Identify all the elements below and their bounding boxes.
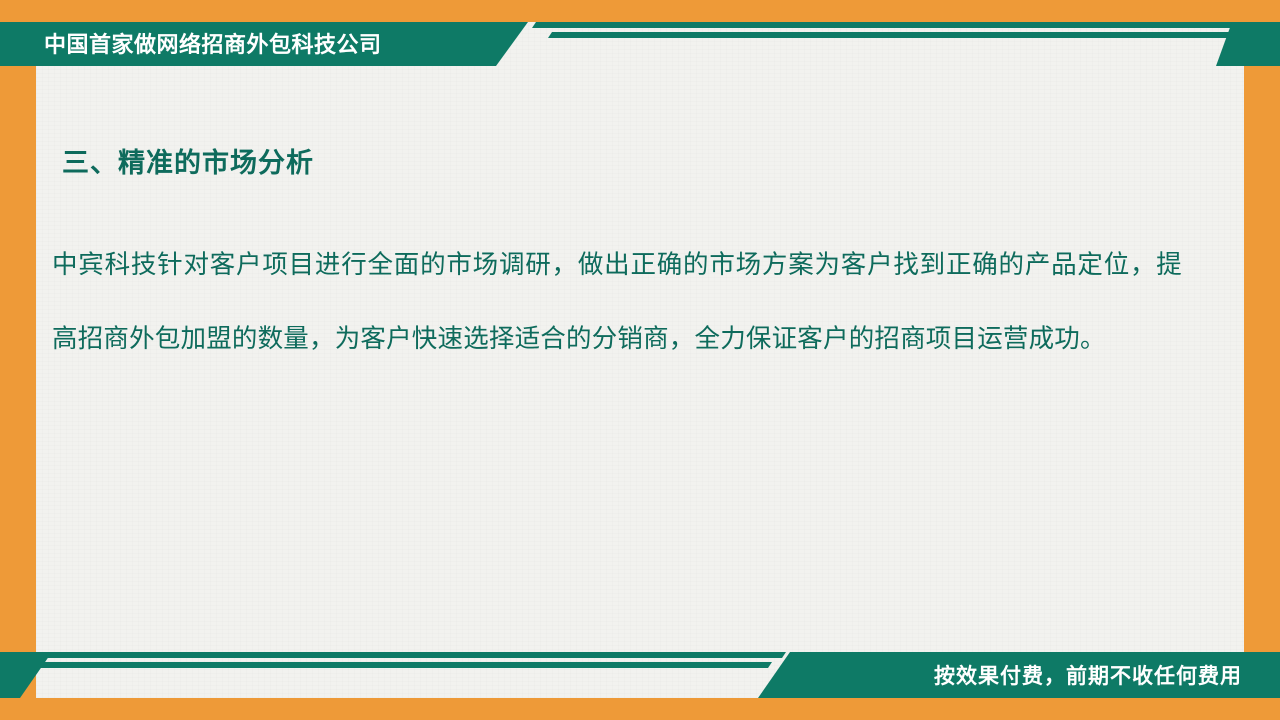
header-ribbon-top-line bbox=[532, 22, 1280, 28]
footer-ribbon-thin-line bbox=[36, 662, 772, 668]
header-title: 中国首家做网络招商外包科技公司 bbox=[44, 30, 382, 60]
footer-ribbon-top-line bbox=[0, 652, 786, 658]
body-paragraph: 中宾科技针对客户项目进行全面的市场调研，做出正确的市场方案为客户找到正确的产品定… bbox=[52, 228, 1182, 376]
slide: 中国首家做网络招商外包科技公司 三、精准的市场分析 中宾科技针对客户项目进行全面… bbox=[0, 0, 1280, 720]
header-ribbon-thin-line bbox=[548, 32, 1280, 38]
header-ribbon-right bbox=[1216, 22, 1280, 66]
section-heading: 三、精准的市场分析 bbox=[62, 141, 314, 180]
footer-slogan: 按效果付费，前期不收任何费用 bbox=[934, 660, 1242, 690]
footer-ribbon-left bbox=[0, 652, 52, 698]
